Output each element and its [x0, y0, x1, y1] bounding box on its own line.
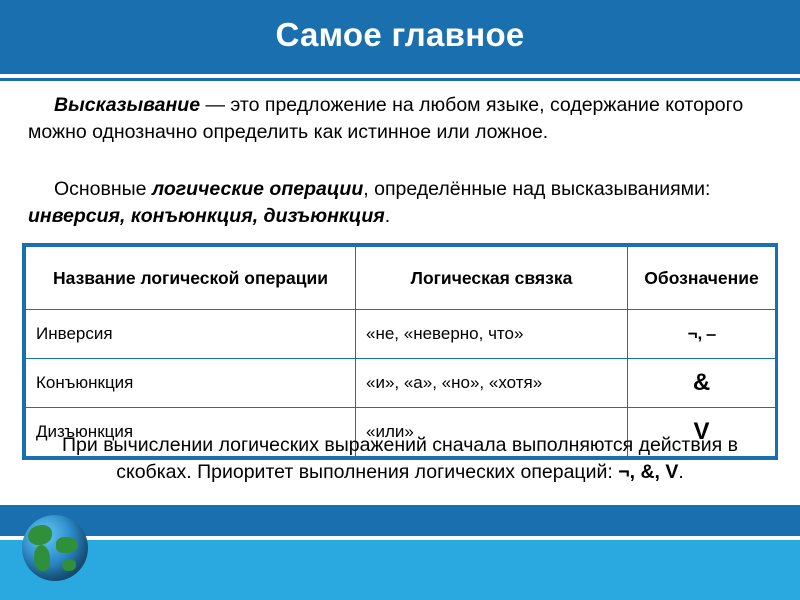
cell-connective: «и», «а», «но», «хотя»	[356, 359, 628, 408]
term-vyskazyvanie: Высказывание	[54, 94, 200, 116]
logic-operations-table: Название логической операции Логическая …	[22, 243, 778, 460]
term-operation-list: инверсия, конъюнкция, дизъюнкция	[28, 205, 385, 227]
paragraph-operations-part3: .	[385, 205, 390, 227]
paragraph-operations-part2: , определённые над высказываниями:	[363, 178, 710, 200]
paragraph-definition: Высказывание — это предложение на любом …	[28, 92, 772, 146]
paragraph-priority-part2: .	[678, 461, 683, 483]
table-header-row: Название логической операции Логическая …	[26, 247, 776, 310]
table-header-operation: Название логической операции	[26, 247, 356, 310]
paragraph-priority: При вычислении логических выражений снач…	[28, 432, 772, 486]
cell-connective: «не, «неверно, что»	[356, 310, 628, 359]
footer-band-light	[0, 540, 800, 600]
term-logicheskie-operacii: логические операции	[152, 178, 363, 200]
globe-icon	[22, 515, 88, 581]
priority-symbols: ¬, &, V	[618, 461, 678, 483]
table-row: Инверсия «не, «неверно, что» ¬, ⎯	[26, 310, 776, 359]
paragraph-operations: Основные логические операции, определённ…	[28, 176, 772, 230]
cell-symbol: ¬, ⎯	[628, 310, 776, 359]
cell-symbol: &	[628, 359, 776, 408]
slide: Самое главное Высказывание — это предлож…	[0, 0, 800, 600]
cell-operation: Конъюнкция	[26, 359, 356, 408]
table-row: Конъюнкция «и», «а», «но», «хотя» &	[26, 359, 776, 408]
paragraph-operations-part1: Основные	[54, 178, 152, 200]
cell-operation: Инверсия	[26, 310, 356, 359]
title-accent-band	[0, 78, 800, 81]
page-title: Самое главное	[0, 16, 800, 54]
table-header-symbol: Обозначение	[628, 247, 776, 310]
table-header-connective: Логическая связка	[356, 247, 628, 310]
